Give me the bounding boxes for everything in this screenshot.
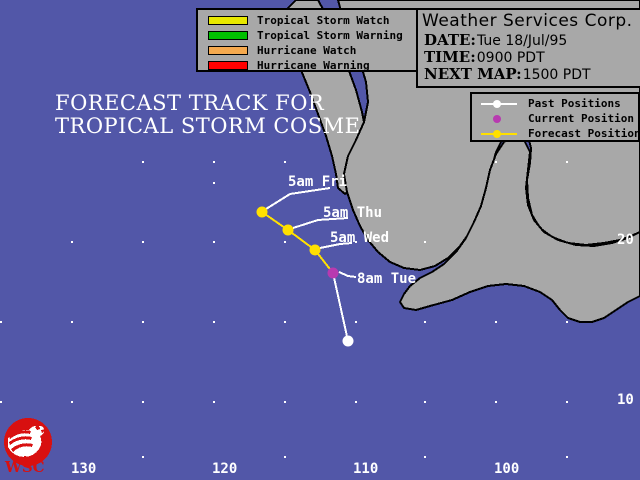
forecast-position-marker xyxy=(310,245,321,256)
longitude-label-120: 120 xyxy=(212,461,237,477)
latitude-label-20: 20 xyxy=(617,232,634,248)
page-title-line2: TROPICAL STORM COSME xyxy=(55,115,360,138)
position-legend-row: Past Positions xyxy=(478,96,638,111)
info-row-next-map: NEXT MAP: 1500 PDT xyxy=(424,65,640,82)
magenta-dot-icon xyxy=(478,112,520,125)
position-legend-label: Past Positions xyxy=(528,97,621,110)
position-legend-label: Forecast Position xyxy=(528,127,640,140)
next-map-value: 1500 PDT xyxy=(523,67,591,83)
color-swatch xyxy=(208,16,248,25)
legend-row: Hurricane Warning xyxy=(208,58,416,72)
position-legend-label: Current Position xyxy=(528,112,634,125)
date-label: DATE: xyxy=(424,31,476,49)
forecast-position-marker xyxy=(283,225,294,236)
provider-info-panel: Weather Services Corp. DATE: Tue 18/Jul/… xyxy=(416,8,640,88)
page-title-line1: FORECAST TRACK FOR xyxy=(55,92,360,115)
track-label-8am-tue: 8am Tue xyxy=(357,271,416,287)
yellow-dot-line-icon xyxy=(478,127,520,140)
weather-map-screenshot: Tropical Storm Watch Tropical Storm Warn… xyxy=(0,0,640,480)
color-swatch xyxy=(208,61,248,70)
latitude-label-10: 10 xyxy=(617,392,634,408)
current-position-marker xyxy=(328,268,339,279)
longitude-label-130: 130 xyxy=(71,461,96,477)
track-label-5am-thu: 5am Thu xyxy=(323,205,382,221)
white-dot-line-icon xyxy=(478,97,520,110)
track-label-5am-wed: 5am Wed xyxy=(330,230,389,246)
longitude-label-100: 100 xyxy=(494,461,519,477)
legend-label: Hurricane Watch xyxy=(257,44,356,57)
warning-legend-panel: Tropical Storm Watch Tropical Storm Warn… xyxy=(196,8,418,72)
legend-row: Hurricane Watch xyxy=(208,43,416,57)
time-value: 0900 PDT xyxy=(477,50,545,66)
color-swatch xyxy=(208,31,248,40)
forecast-position-marker xyxy=(257,207,268,218)
info-row-date: DATE: Tue 18/Jul/95 xyxy=(424,31,640,48)
wsc-logo-text: WSC xyxy=(5,458,45,476)
next-map-label: NEXT MAP: xyxy=(424,65,522,83)
color-swatch xyxy=(208,46,248,55)
position-legend-panel: Past Positions Current Position Forecast… xyxy=(470,92,640,142)
page-title: FORECAST TRACK FOR TROPICAL STORM COSME xyxy=(55,92,360,138)
time-label: TIME: xyxy=(424,48,476,66)
info-row-time: TIME: 0900 PDT xyxy=(424,48,640,65)
position-legend-row: Current Position xyxy=(478,111,638,126)
legend-row: Tropical Storm Watch xyxy=(208,13,416,27)
legend-label: Hurricane Warning xyxy=(257,59,370,72)
position-legend-row: Forecast Position xyxy=(478,126,638,141)
legend-row: Tropical Storm Warning xyxy=(208,28,416,42)
track-label-5am-fri: 5am Fri xyxy=(288,174,347,190)
longitude-label-110: 110 xyxy=(353,461,378,477)
date-value: Tue 18/Jul/95 xyxy=(477,33,567,49)
legend-label: Tropical Storm Watch xyxy=(257,14,389,27)
provider-name: Weather Services Corp. xyxy=(422,11,640,31)
legend-label: Tropical Storm Warning xyxy=(257,29,403,42)
past-position-marker xyxy=(343,336,354,347)
